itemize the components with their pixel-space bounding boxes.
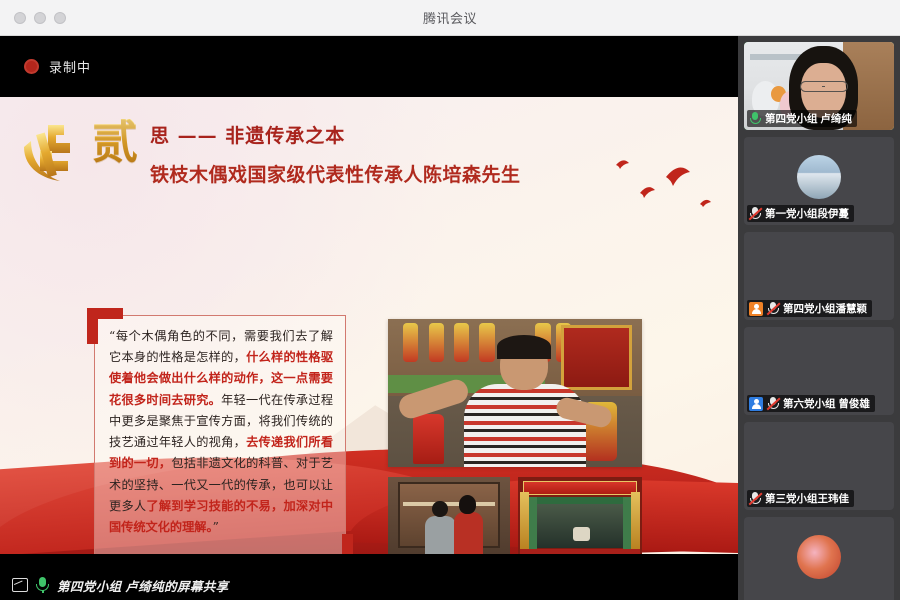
participant-tile-4[interactable]: 第三党小组王玮佳 <box>744 422 894 510</box>
participant-tile-2[interactable]: 第四党小组潘慧颖 <box>744 232 894 320</box>
participant-tile-5[interactable] <box>744 517 894 600</box>
slide-heading-block: 思 —— 非遗传承之本 铁枝木偶戏国家级代表性传承人陈培森先生 <box>150 121 521 187</box>
screen-share-statusbar: 第四党小组 卢绮纯的屏幕共享 <box>0 570 738 600</box>
photo-puppet-left <box>413 414 443 464</box>
slide-title: 思 —— 非遗传承之本 <box>150 121 521 148</box>
microphone-on-icon <box>749 112 761 125</box>
slide-subtitle: 铁枝木偶戏国家级代表性传承人陈培森先生 <box>150 160 521 187</box>
presentation-slide: 贰 思 —— 非遗传承之本 铁枝木偶戏国家级代表性传承人陈培森先生 “每个木偶角… <box>0 97 738 554</box>
photo-person-body <box>464 384 586 467</box>
photo-person-head <box>432 501 448 518</box>
participant-name-chip: 第四党小组 卢绮纯 <box>747 110 857 127</box>
photo-red-plaque <box>561 325 632 390</box>
participant-tile-0[interactable]: 第四党小组 卢绮纯 <box>744 42 894 130</box>
photo-stage-pillar-right <box>631 492 640 551</box>
photo-stage-curtain-left <box>528 497 537 549</box>
photo-person-body <box>454 512 483 554</box>
quote-card: “每个木偶角色的不同，需要我们去了解它本身的性格是怎样的，什么样的性格驱使着他会… <box>94 315 346 554</box>
avatar <box>797 535 841 579</box>
window-titlebar: 腾讯会议 <box>0 0 900 36</box>
party-emblem-icon <box>18 121 90 187</box>
photo-person-hair <box>497 335 550 359</box>
recording-label: 录制中 <box>49 57 91 76</box>
window-title: 腾讯会议 <box>0 8 900 27</box>
host-badge-icon <box>749 302 763 316</box>
photo-puppet-stage <box>518 477 642 554</box>
microphone-muted-icon <box>767 302 779 315</box>
photo-puppet-doll <box>479 323 494 361</box>
avatar <box>797 155 841 199</box>
participant-name: 第六党小组 曾俊雄 <box>783 396 870 411</box>
photo-stage-pillar-left <box>520 492 529 551</box>
cohost-badge-icon <box>749 397 763 411</box>
video-person-glasses <box>800 81 848 92</box>
photo-interview-main <box>388 319 642 467</box>
photo-puppet-doll <box>403 323 418 361</box>
slide-numeral: 贰 <box>92 119 138 165</box>
microphone-muted-icon <box>749 492 761 505</box>
photo-person-head <box>459 495 476 513</box>
photo-person-body <box>425 516 457 554</box>
participant-name-chip: 第三党小组王玮佳 <box>747 490 854 507</box>
photo-puppet-doll <box>429 323 444 361</box>
microphone-muted-icon <box>767 397 779 410</box>
participant-name-chip: 第一党小组段伊蔓 <box>747 205 854 222</box>
photo-stage-base <box>520 549 639 554</box>
screen-share-icon <box>12 578 28 592</box>
quote-text: “每个木偶角色的不同，需要我们去了解它本身的性格是怎样的，什么样的性格驱使着他会… <box>109 326 333 538</box>
participant-tile-3[interactable]: 第六党小组 曾俊雄 <box>744 327 894 415</box>
participant-name-chip: 第六党小组 曾俊雄 <box>747 395 875 412</box>
flying-birds-icon <box>600 149 720 219</box>
tencent-meeting-window: 腾讯会议 录制中 <box>0 0 900 600</box>
microphone-icon <box>36 577 49 593</box>
screen-share-label: 第四党小组 卢绮纯的屏幕共享 <box>57 576 229 595</box>
participant-name: 第三党小组王玮佳 <box>765 491 849 506</box>
microphone-muted-icon <box>749 207 761 220</box>
participant-sidebar[interactable]: 第四党小组 卢绮纯 第一党小组段伊蔓 第四党小组潘慧颖 第六党小组 曾 <box>738 36 900 600</box>
photo-puppet-doll <box>454 323 469 361</box>
record-icon <box>24 59 39 74</box>
shared-screen-stage: 录制中 贰 <box>0 36 738 600</box>
photo-exhibition-visit <box>388 477 510 554</box>
participant-tile-1[interactable]: 第一党小组段伊蔓 <box>744 137 894 225</box>
photo-stage-figures <box>573 527 590 540</box>
photo-stage-banner <box>523 481 637 495</box>
participant-name-chip: 第四党小组潘慧颖 <box>747 300 872 317</box>
recording-bar: 录制中 <box>0 36 738 97</box>
photo-stage-backdrop <box>533 504 627 548</box>
participant-name: 第四党小组潘慧颖 <box>783 301 867 316</box>
photo-case-light <box>403 502 496 506</box>
participant-name: 第四党小组 卢绮纯 <box>765 111 852 126</box>
participant-name: 第一党小组段伊蔓 <box>765 206 849 221</box>
quote-close-mark: ” <box>213 520 219 534</box>
